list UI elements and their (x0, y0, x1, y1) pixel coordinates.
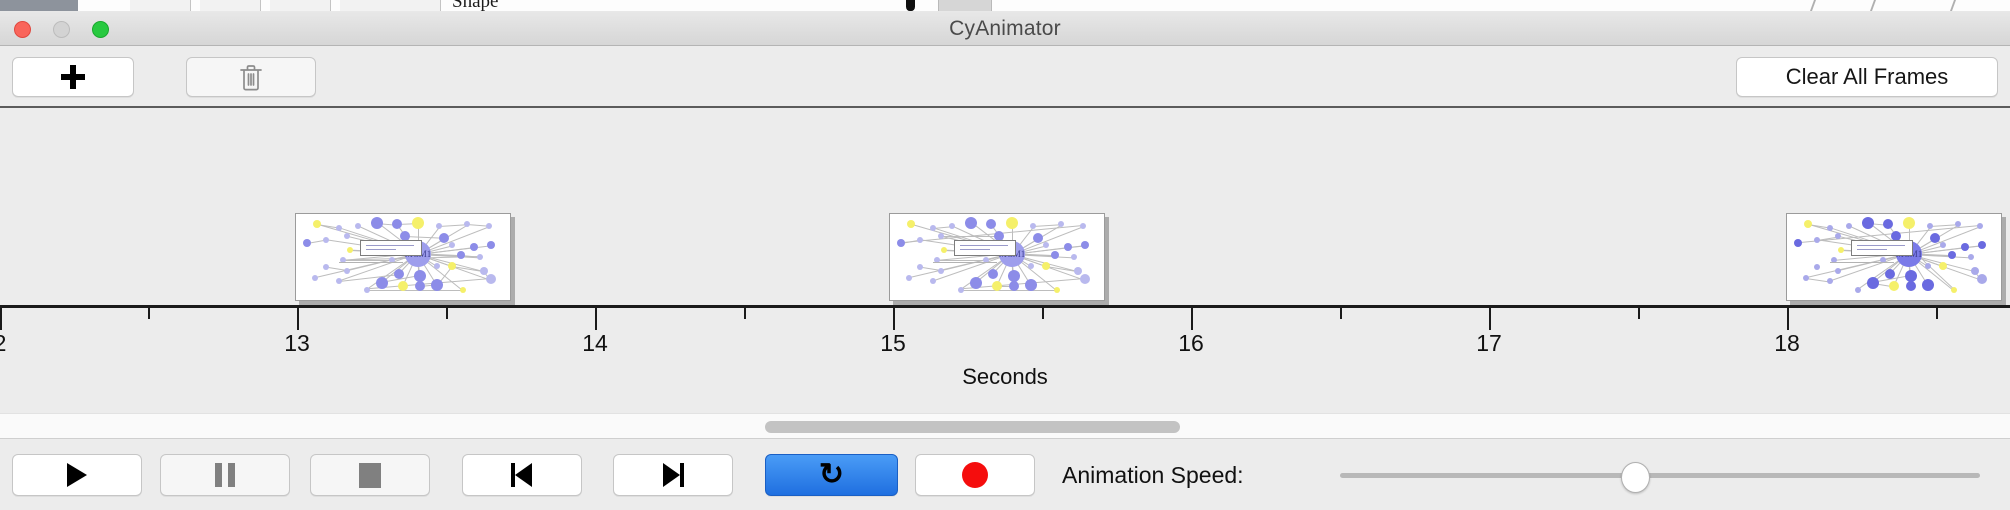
network-node (1814, 237, 1820, 243)
network-node (323, 264, 329, 270)
network-node (1906, 281, 1916, 291)
network-node (457, 251, 465, 259)
network-node (970, 277, 982, 289)
tick-label: 17 (1476, 330, 1502, 357)
background-window-tab (340, 0, 441, 11)
tooltip-text-line (960, 245, 1008, 246)
network-node (460, 287, 466, 293)
stop-icon (359, 463, 381, 488)
network-node (988, 269, 998, 279)
tooltip-text-line (366, 249, 396, 250)
network-node (1867, 277, 1879, 289)
network-edge (961, 290, 1057, 291)
network-node (1033, 233, 1043, 243)
tooltip-text-line (366, 245, 414, 246)
network-node (1977, 223, 1983, 229)
record-icon (962, 462, 988, 488)
network-node (1008, 270, 1020, 282)
background-window-divider (1870, 0, 1876, 11)
network-node (1961, 243, 1969, 251)
network-node (1814, 264, 1820, 270)
network-thumbnail: MCM1 (1787, 214, 2001, 300)
plus-icon (61, 65, 85, 89)
network-node (941, 247, 947, 253)
network-node (1074, 267, 1082, 275)
tick-major (1787, 308, 1789, 330)
background-window-button (938, 0, 992, 11)
network-node (371, 217, 383, 229)
network-node (487, 241, 495, 249)
clear-all-frames-label: Clear All Frames (1786, 64, 1949, 90)
network-node (897, 239, 905, 247)
scrollbar-thumb[interactable] (765, 421, 1180, 433)
network-node (344, 233, 350, 239)
cyanimator-window: Shape CyAnimator Clear All Frames MCM1MC… (0, 0, 2010, 510)
network-node (439, 233, 449, 243)
network-node (364, 287, 370, 293)
background-window-tab (130, 0, 191, 11)
network-node (1804, 220, 1812, 228)
network-node (464, 221, 470, 227)
horizontal-scrollbar[interactable] (0, 413, 2010, 439)
network-node (347, 247, 353, 253)
tick-minor (744, 308, 746, 319)
network-node (907, 220, 915, 228)
loop-button[interactable]: ↻ (765, 454, 898, 496)
network-node (449, 242, 455, 248)
network-node (1968, 254, 1974, 260)
network-node (1978, 241, 1986, 249)
tick-minor (446, 308, 448, 319)
tick-minor (1340, 308, 1342, 319)
network-node (1827, 225, 1833, 231)
network-node (312, 275, 318, 281)
slider-track[interactable] (1340, 473, 1980, 478)
network-node (1794, 239, 1802, 247)
trash-icon (238, 63, 264, 91)
network-node (412, 217, 424, 229)
network-node (1042, 262, 1050, 270)
network-node (906, 275, 912, 281)
prev-frame-button[interactable] (462, 454, 582, 496)
network-node (336, 225, 342, 231)
axis-title: Seconds (0, 364, 2010, 390)
title-bar[interactable]: CyAnimator (0, 11, 2010, 46)
node-tooltip (360, 240, 422, 256)
network-node (1064, 243, 1072, 251)
network-thumbnail: MCM1 (890, 214, 1104, 300)
tick-major (595, 308, 597, 330)
play-icon (67, 463, 87, 487)
network-node (1043, 242, 1049, 248)
background-window-divider (1810, 0, 1816, 11)
pause-icon (215, 463, 235, 487)
window-title: CyAnimator (0, 11, 2010, 46)
tick-minor (1042, 308, 1044, 319)
keyframe-3[interactable]: MCM1 (1786, 213, 2002, 301)
next-frame-button[interactable] (613, 454, 733, 496)
node-tooltip (954, 240, 1016, 256)
network-node (1006, 217, 1018, 229)
tick-label: 15 (880, 330, 906, 357)
network-node (1071, 254, 1077, 260)
thumbnail-caption-line (339, 262, 403, 263)
background-window-marker (906, 0, 915, 11)
network-node (949, 223, 955, 229)
network-node (1855, 287, 1861, 293)
network-node (1927, 223, 1933, 229)
tick-major (1489, 308, 1491, 330)
network-node (1051, 251, 1059, 259)
network-node (1030, 223, 1036, 229)
network-node (436, 223, 442, 229)
network-node (938, 268, 944, 274)
tick-major (0, 308, 2, 330)
tick-minor (1638, 308, 1640, 319)
network-node (1940, 242, 1946, 248)
network-node (1080, 274, 1090, 284)
background-window-label: Shape (452, 0, 498, 7)
network-node (917, 264, 923, 270)
network-node (394, 269, 404, 279)
network-node (1971, 267, 1979, 275)
network-node (480, 267, 488, 275)
network-node (1939, 262, 1947, 270)
network-node (1930, 233, 1940, 243)
stop-button[interactable] (310, 454, 430, 496)
network-node (1903, 217, 1915, 229)
network-node (376, 277, 388, 289)
network-node (1951, 287, 1957, 293)
timeline-axis (0, 305, 2010, 308)
network-edge (405, 236, 444, 239)
network-node (336, 278, 342, 284)
tooltip-text-line (960, 249, 990, 250)
network-edge (367, 290, 463, 291)
network-node (1905, 270, 1917, 282)
network-node (1925, 263, 1931, 269)
network-node (1862, 217, 1874, 229)
network-node (434, 263, 440, 269)
keyframe-2[interactable]: MCM1 (889, 213, 1105, 301)
clear-all-frames-button[interactable]: Clear All Frames (1736, 57, 1998, 97)
network-node (930, 278, 936, 284)
network-node (1081, 241, 1089, 249)
network-node (1883, 219, 1893, 229)
tick-label: 14 (582, 330, 608, 357)
background-window-divider (1950, 0, 1956, 11)
tick-major (297, 308, 299, 330)
thumbnail-caption-line (933, 262, 997, 263)
network-node (313, 220, 321, 228)
background-window-sidebar (0, 0, 78, 11)
network-node (1827, 278, 1833, 284)
network-node (392, 219, 402, 229)
tick-label: 13 (284, 330, 310, 357)
network-node (986, 219, 996, 229)
network-node (1977, 274, 1987, 284)
network-node (303, 239, 311, 247)
keyframe-1[interactable]: MCM1 (295, 213, 511, 301)
network-node (414, 270, 426, 282)
tick-major (893, 308, 895, 330)
tooltip-text-line (1857, 245, 1905, 246)
network-node (431, 279, 443, 291)
toolbar: Clear All Frames (0, 46, 2010, 108)
network-node (917, 237, 923, 243)
tick-label: 2 (0, 330, 6, 357)
network-node (1846, 223, 1852, 229)
node-tooltip (1851, 240, 1913, 256)
network-node (477, 254, 483, 260)
network-edge (941, 236, 999, 237)
network-node (470, 243, 478, 251)
network-node (1889, 281, 1899, 291)
network-thumbnail: MCM1 (296, 214, 510, 300)
background-window-strip: Shape (0, 0, 2010, 11)
delete-frame-button[interactable] (186, 57, 316, 97)
network-node (1028, 263, 1034, 269)
network-node (1948, 251, 1956, 259)
thumbnail-caption-line (1830, 262, 1894, 263)
tick-major (1191, 308, 1193, 330)
background-window-tab (200, 0, 261, 11)
tick-minor (1936, 308, 1938, 319)
network-node (1838, 247, 1844, 253)
tick-minor (148, 308, 150, 319)
network-node (1835, 268, 1841, 274)
network-node (1922, 279, 1934, 291)
animation-speed-label: Animation Speed: (1062, 454, 1244, 496)
network-node (344, 268, 350, 274)
network-node (323, 237, 329, 243)
tick-label: 16 (1178, 330, 1204, 357)
skip-back-icon (511, 463, 533, 487)
network-node (958, 287, 964, 293)
background-window-tab (270, 0, 331, 11)
slider-thumb[interactable] (1621, 462, 1650, 493)
tooltip-text-line (1857, 249, 1887, 250)
loop-icon: ↻ (819, 460, 844, 490)
pause-button[interactable] (160, 454, 290, 496)
skip-forward-icon (662, 463, 684, 487)
network-node (965, 217, 977, 229)
network-node (930, 225, 936, 231)
timeline-panel[interactable]: MCM1MCM1MCM1 2131415161718 Seconds (0, 108, 2010, 413)
record-button[interactable] (915, 454, 1035, 496)
play-button[interactable] (12, 454, 142, 496)
network-node (1885, 269, 1895, 279)
network-node (486, 274, 496, 284)
add-frame-button[interactable] (12, 57, 134, 97)
network-node (1025, 279, 1037, 291)
tick-label: 18 (1774, 330, 1800, 357)
playback-controls: ↻ Animation Speed: (0, 440, 2010, 510)
network-node (448, 262, 456, 270)
keyframe-list: MCM1MCM1MCM1 (0, 108, 2010, 308)
network-node (486, 223, 492, 229)
network-node (355, 223, 361, 229)
network-node (1080, 223, 1086, 229)
animation-speed-slider[interactable] (1340, 454, 1980, 496)
network-node (1803, 275, 1809, 281)
network-node (1054, 287, 1060, 293)
